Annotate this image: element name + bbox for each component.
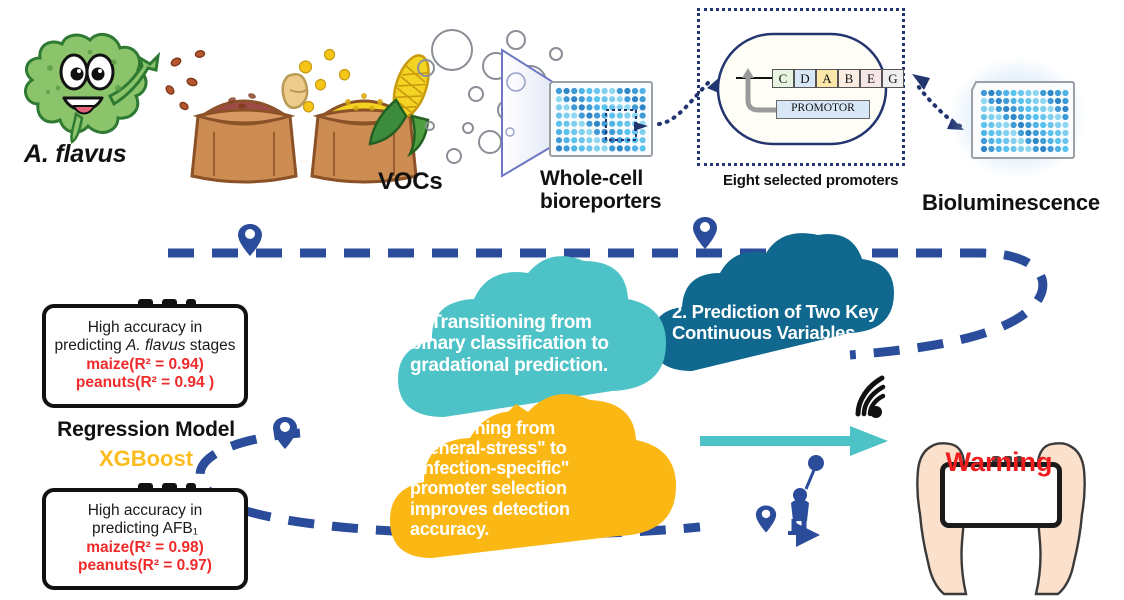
card-stages-line2: predicting A. flavus stages — [55, 337, 236, 355]
vocs-label: VOCs — [378, 168, 443, 196]
map-pin-icon-3 — [272, 416, 298, 450]
card-stages-maize: maize(R² = 0.94) — [86, 356, 204, 375]
gene-box-d: D — [794, 69, 816, 88]
card-afb1-peanuts: peanuts(R² = 0.97) — [78, 557, 212, 576]
hands-holding-phone — [888, 418, 1114, 598]
person-icon — [788, 455, 834, 535]
map-pin-icon-4 — [755, 504, 777, 534]
gene-cassette: C D A B E G — [772, 69, 904, 88]
cloud-3-text: 3. Switching from "general-stress" to "i… — [410, 418, 632, 539]
card-nub-2 — [162, 299, 177, 307]
wifi-signal-icon — [852, 374, 908, 420]
regression-model-heading: Regression Model — [38, 418, 254, 442]
graphical-abstract: A. flavus — [0, 0, 1124, 600]
map-pin-icon-2 — [692, 216, 718, 250]
card-afb1-maize: maize(R² = 0.98) — [86, 539, 204, 558]
card-stages-peanuts: peanuts(R² = 0.94 ) — [76, 374, 214, 393]
phone-warning-text: Warning — [940, 447, 1058, 478]
card-nub-6 — [186, 483, 196, 491]
card-nub-3 — [186, 299, 196, 307]
result-card-afb1: High accuracy in predicting AFB₁ maize(R… — [42, 488, 248, 590]
card-nub-4 — [138, 483, 153, 491]
promoter-box: PROMOTOR — [776, 100, 870, 119]
result-card-stages: High accuracy in predicting A. flavus st… — [42, 304, 248, 408]
gene-box-c: C — [772, 69, 794, 88]
card-afb1-line1: High accuracy in — [88, 502, 203, 520]
cloud-1-text: 1. Transitioning from binary classificat… — [410, 312, 672, 376]
cloud-2-text: 2. Prediction of Two Key Continuous Vari… — [672, 302, 920, 343]
a-flavus-label: A. flavus — [24, 140, 126, 169]
gene-box-g: G — [882, 69, 904, 88]
gene-box-e: E — [860, 69, 882, 88]
teal-arrow-icon — [700, 424, 890, 458]
card-nub-5 — [162, 483, 177, 491]
microplate-bioreporters — [548, 76, 660, 162]
card-stages-line1: High accuracy in — [88, 319, 203, 337]
microplate-bioluminescence — [966, 78, 1076, 162]
model-name-xgboost: XGBoost — [38, 446, 254, 472]
promoters-caption: Eight selected promoters — [723, 172, 898, 189]
gene-box-b: B — [838, 69, 860, 88]
bacterial-cell-outline — [714, 28, 892, 152]
card-afb1-line2: predicting AFB₁ — [92, 520, 198, 538]
map-pin-icon-1 — [237, 223, 263, 257]
gene-box-a: A — [816, 69, 838, 88]
card-nub-1 — [138, 299, 153, 307]
